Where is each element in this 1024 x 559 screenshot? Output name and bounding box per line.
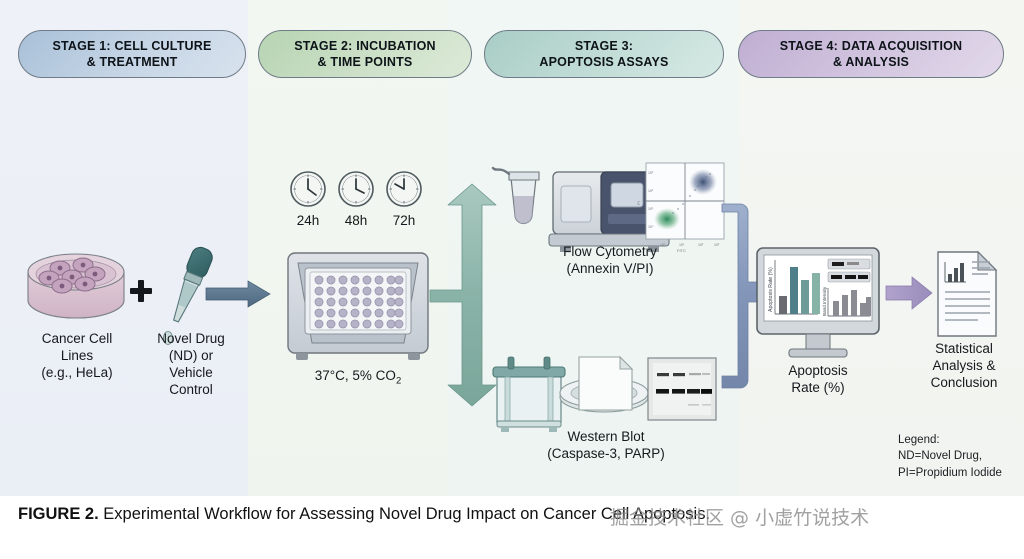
novel-drug-line3: Vehicle bbox=[169, 365, 213, 380]
co2-subscript: 2 bbox=[396, 376, 401, 387]
flow-cytometry-line2: (Annexin V/PI) bbox=[566, 261, 653, 276]
watermark-text: 掘金技术社区 @ 小虚竹说技术 bbox=[610, 503, 869, 530]
flow-cytometry-label: Flow Cytometry (Annexin V/PI) bbox=[498, 243, 722, 277]
cancer-cell-lines-label: Cancer Cell Lines (e.g., HeLa) bbox=[10, 330, 144, 381]
legend-line3: PI=Propidium Iodide bbox=[898, 467, 1002, 479]
stage-header-2-line1: STAGE 2: INCUBATION bbox=[294, 39, 436, 53]
novel-drug-label: Novel Drug (ND) or Vehicle Control bbox=[133, 330, 249, 398]
stage-header-3: STAGE 3: APOPTOSIS ASSAYS bbox=[484, 30, 724, 78]
novel-drug-line2: (ND) or bbox=[169, 348, 213, 363]
stage-header-1: STAGE 1: CELL CULTURE & TREATMENT bbox=[18, 30, 246, 78]
stage-header-3-line1: STAGE 3: bbox=[575, 39, 633, 53]
flow-cytometry-line1: Flow Cytometry bbox=[563, 244, 657, 259]
figure-workflow-diagram: STAGE 1: CELL CULTURE & TREATMENT STAGE … bbox=[0, 0, 1024, 559]
legend-line1: Legend: bbox=[898, 434, 940, 446]
legend-block: Legend: ND=Novel Drug, PI=Propidium Iodi… bbox=[898, 432, 1002, 481]
statistical-analysis-line1: Statistical bbox=[935, 341, 993, 356]
statistical-analysis-line3: Conclusion bbox=[931, 375, 998, 390]
apoptosis-rate-line2: Rate (%) bbox=[791, 380, 844, 395]
stage-header-1-line1: STAGE 1: CELL CULTURE bbox=[52, 39, 211, 53]
cancer-cell-lines-line1: Cancer Cell bbox=[42, 331, 113, 346]
stage-header-3-line2: APOPTOSIS ASSAYS bbox=[539, 55, 668, 69]
stage-header-1-line2: & TREATMENT bbox=[87, 55, 178, 69]
timepoint-label-72h: 72h bbox=[382, 212, 426, 229]
cancer-cell-lines-line3: (e.g., HeLa) bbox=[41, 365, 112, 380]
statistical-analysis-line2: Analysis & bbox=[932, 358, 995, 373]
western-blot-line1: Western Blot bbox=[567, 429, 644, 444]
stage-header-2-line2: & TIME POINTS bbox=[318, 55, 413, 69]
stage-header-4-line1: STAGE 4: DATA ACQUISITION bbox=[780, 39, 963, 53]
novel-drug-line4: Control bbox=[169, 382, 213, 397]
stage-header-2: STAGE 2: INCUBATION & TIME POINTS bbox=[258, 30, 472, 78]
western-blot-line2: (Caspase-3, PARP) bbox=[547, 446, 665, 461]
stage-header-4: STAGE 4: DATA ACQUISITION & ANALYSIS bbox=[738, 30, 1004, 78]
figure-caption-label: FIGURE 2. bbox=[18, 505, 99, 523]
legend-line2: ND=Novel Drug, bbox=[898, 450, 982, 462]
incubation-condition-text: 37°C, 5% CO bbox=[315, 368, 396, 383]
statistical-analysis-label: Statistical Analysis & Conclusion bbox=[908, 340, 1020, 391]
stage-header-4-line2: & ANALYSIS bbox=[833, 55, 909, 69]
apoptosis-rate-line1: Apoptosis bbox=[788, 363, 847, 378]
apoptosis-rate-label: Apoptosis Rate (%) bbox=[762, 362, 874, 396]
timepoint-label-24h: 24h bbox=[286, 212, 330, 229]
novel-drug-line1: Novel Drug bbox=[157, 331, 225, 346]
timepoint-label-48h: 48h bbox=[334, 212, 378, 229]
cancer-cell-lines-line2: Lines bbox=[61, 348, 93, 363]
incubation-condition-label: 37°C, 5% CO2 bbox=[288, 367, 428, 388]
western-blot-label: Western Blot (Caspase-3, PARP) bbox=[488, 428, 724, 462]
